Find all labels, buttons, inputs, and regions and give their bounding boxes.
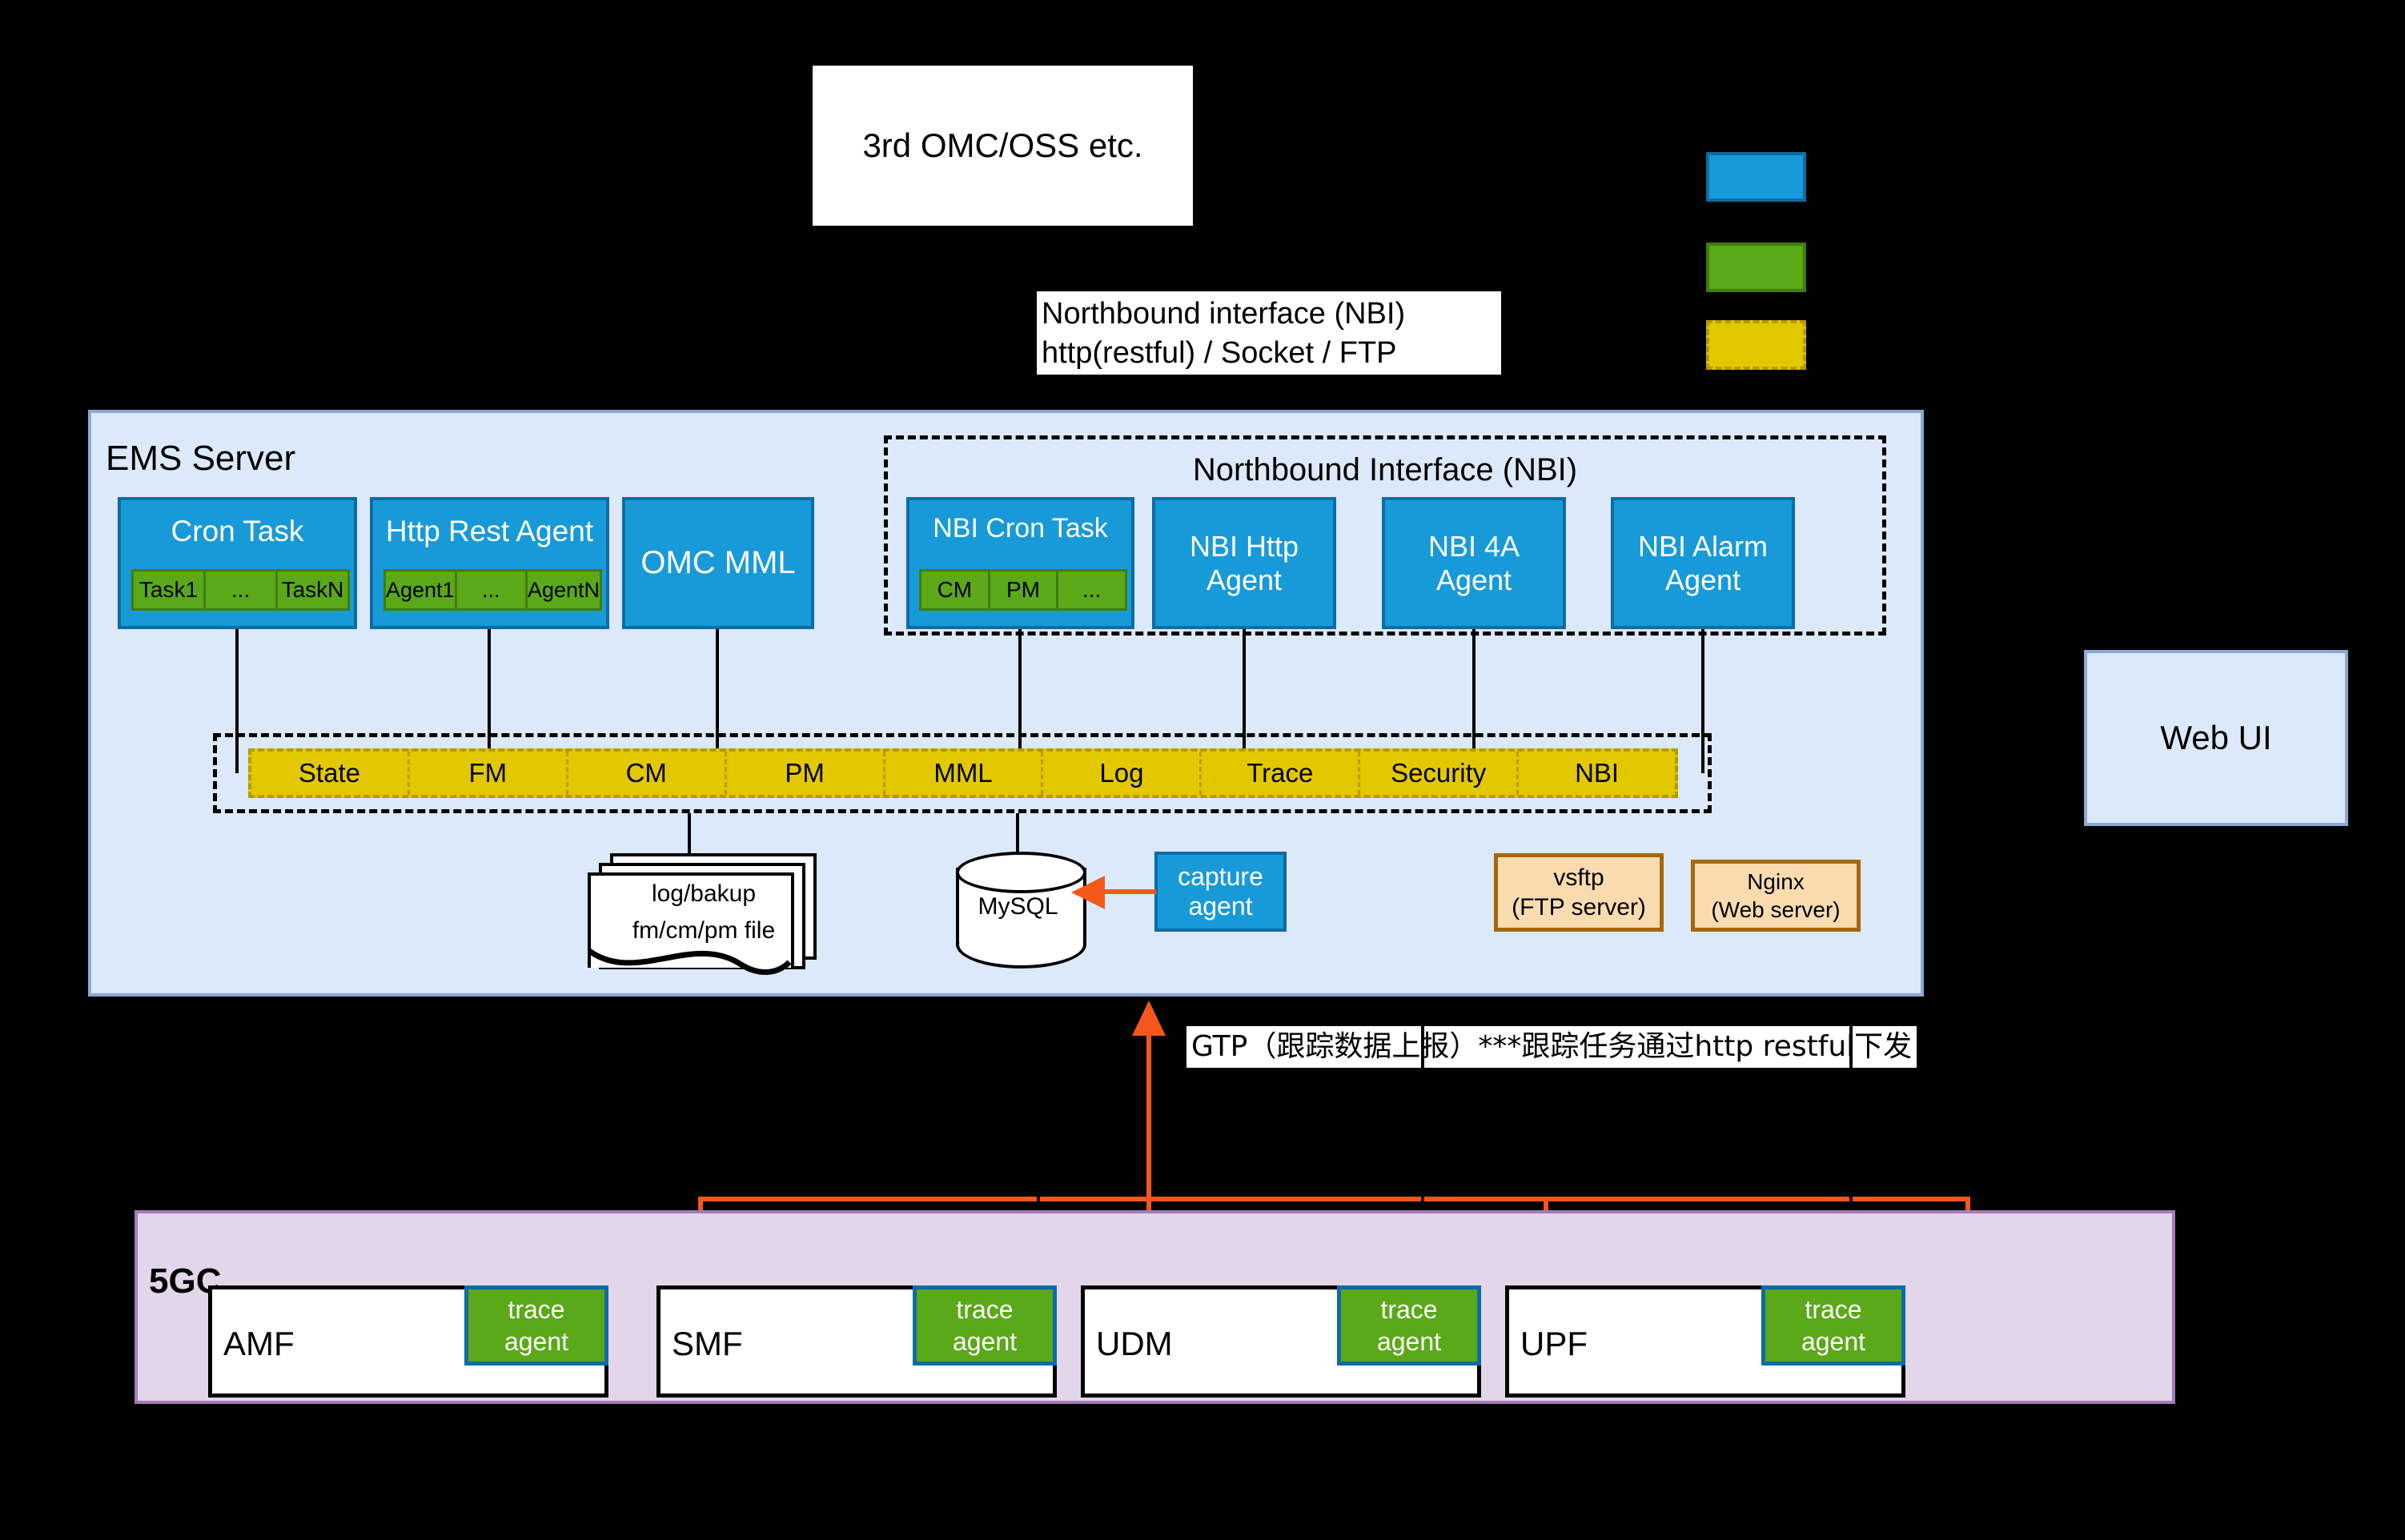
vsftp-line1: vsftp bbox=[1498, 863, 1660, 893]
http-rest-agent-chip[interactable]: ... bbox=[457, 571, 528, 608]
component-nbi-http-agent[interactable]: NBI Http Agent bbox=[1152, 497, 1336, 629]
cron-task-chip[interactable]: ... bbox=[206, 571, 278, 608]
mysql-cylinder-top bbox=[956, 852, 1086, 893]
third-party-omc-oss-box: 3rd OMC/OSS etc. bbox=[813, 66, 1193, 226]
component-nbi-alarm-agent-label-line2: Agent bbox=[1614, 563, 1792, 597]
nbi-link-label-line1: Northbound interface (NBI) bbox=[1042, 295, 1496, 334]
vsftp-server-box[interactable]: vsftp (FTP server) bbox=[1494, 853, 1664, 932]
web-ui-box[interactable]: Web UI bbox=[2084, 650, 2348, 826]
trace-agent-smf[interactable]: trace agent bbox=[913, 1285, 1057, 1366]
trace-agent-amf-line1: trace bbox=[468, 1293, 604, 1325]
gc-node-upf-label: UPF bbox=[1520, 1325, 1588, 1363]
file-store-line2: fm/cm/pm file bbox=[588, 917, 820, 944]
trace-agent-upf-line2: agent bbox=[1765, 1325, 1901, 1358]
gc-node-amf-label: AMF bbox=[223, 1325, 295, 1363]
arrow-capture-to-mysql-line bbox=[1098, 889, 1156, 894]
trace-agent-smf-line1: trace bbox=[917, 1293, 1053, 1325]
trace-agent-amf[interactable]: trace agent bbox=[464, 1285, 608, 1366]
trace-agent-upf-line1: trace bbox=[1765, 1293, 1901, 1325]
trace-bus-horizontal bbox=[698, 1197, 1969, 1201]
legend-yellow-swatch bbox=[1706, 320, 1806, 370]
service-state[interactable]: State bbox=[251, 752, 410, 795]
http-rest-agent-chips: Agent1 ... AgentN bbox=[383, 569, 602, 611]
trace-agent-amf-line2: agent bbox=[468, 1325, 604, 1358]
web-ui-label: Web UI bbox=[2160, 719, 2271, 757]
nbi-cron-task-chip[interactable]: CM bbox=[921, 571, 990, 608]
gc-node-udm-label: UDM bbox=[1096, 1325, 1173, 1363]
component-omc-mml-label: OMC MML bbox=[640, 545, 795, 581]
nginx-line2: (Web server) bbox=[1695, 896, 1857, 924]
ems-server-panel: EMS Server Northbound Interface (NBI) Cr… bbox=[88, 410, 1924, 997]
nbi-link-label: Northbound interface (NBI) http(restful)… bbox=[1037, 291, 1501, 375]
file-store-icon: log/bakup fm/cm/pm file bbox=[588, 853, 820, 973]
connector-servicebar-to-mysql bbox=[1016, 813, 1019, 853]
component-cron-task-label: Cron Task bbox=[121, 515, 354, 547]
mysql-database-icon: MySQL bbox=[956, 852, 1080, 964]
component-cron-task[interactable]: Cron Task Task1 ... TaskN bbox=[118, 497, 357, 629]
file-sheet-wave bbox=[588, 948, 791, 986]
mysql-label: MySQL bbox=[956, 893, 1080, 920]
cron-task-chip[interactable]: TaskN bbox=[278, 571, 347, 608]
trace-agent-udm-line2: agent bbox=[1341, 1325, 1477, 1358]
component-nbi-cron-task[interactable]: NBI Cron Task CM PM ... bbox=[906, 497, 1134, 629]
cron-task-chips: Task1 ... TaskN bbox=[131, 569, 350, 611]
http-rest-agent-chip[interactable]: AgentN bbox=[528, 571, 600, 608]
nbi-cron-task-chip[interactable]: PM bbox=[990, 571, 1059, 608]
nginx-server-box[interactable]: Nginx (Web server) bbox=[1691, 860, 1861, 932]
component-http-rest-agent-label: Http Rest Agent bbox=[373, 515, 606, 547]
trace-agent-udm[interactable]: trace agent bbox=[1337, 1285, 1481, 1366]
legend-green-swatch bbox=[1706, 243, 1806, 292]
nbi-cron-task-chip[interactable]: ... bbox=[1058, 571, 1125, 608]
trace-agent-smf-line2: agent bbox=[917, 1325, 1053, 1358]
component-nbi-cron-task-label: NBI Cron Task bbox=[909, 513, 1131, 543]
legend-blue-swatch bbox=[1706, 152, 1806, 202]
component-http-rest-agent[interactable]: Http Rest Agent Agent1 ... AgentN bbox=[370, 497, 609, 629]
component-nbi-http-agent-label-line2: Agent bbox=[1155, 563, 1333, 597]
gc-panel: 5GC AMF trace agent SMF trace agent UDM … bbox=[135, 1210, 2175, 1404]
service-trace[interactable]: Trace bbox=[1202, 752, 1360, 795]
component-nbi-4a-agent-label-line1: NBI 4A bbox=[1385, 530, 1563, 563]
trace-agent-udm-line1: trace bbox=[1341, 1293, 1477, 1325]
ems-server-title: EMS Server bbox=[106, 439, 295, 479]
service-bar: State FM CM PM MML Log Trace Security NB… bbox=[248, 748, 1678, 798]
nbi-group-title: Northbound Interface (NBI) bbox=[888, 452, 1882, 488]
component-omc-mml[interactable]: OMC MML bbox=[622, 497, 814, 629]
service-fm[interactable]: FM bbox=[410, 752, 568, 795]
file-store-line1: log/bakup bbox=[588, 880, 820, 908]
component-nbi-4a-agent-label-line2: Agent bbox=[1385, 563, 1563, 597]
service-pm[interactable]: PM bbox=[727, 752, 885, 795]
service-log[interactable]: Log bbox=[1043, 752, 1202, 795]
http-rest-agent-chip[interactable]: Agent1 bbox=[386, 571, 457, 608]
connector-servicebar-to-filestore bbox=[688, 813, 691, 853]
component-nbi-alarm-agent-label-line1: NBI Alarm bbox=[1614, 530, 1792, 563]
nbi-cron-task-chips: CM PM ... bbox=[919, 569, 1127, 611]
service-security[interactable]: Security bbox=[1360, 752, 1519, 795]
capture-agent-line1: capture bbox=[1158, 862, 1283, 892]
nginx-line1: Nginx bbox=[1695, 868, 1857, 896]
nbi-link-label-line2: http(restful) / Socket / FTP bbox=[1042, 334, 1496, 373]
connector-omc-to-ems bbox=[1001, 226, 1004, 410]
third-party-omc-oss-label: 3rd OMC/OSS etc. bbox=[862, 126, 1142, 165]
gtp-annotation: GTP（跟踪数据上报）***跟踪任务通过http restful下发 bbox=[1186, 1026, 1917, 1068]
component-nbi-alarm-agent[interactable]: NBI Alarm Agent bbox=[1611, 497, 1795, 629]
component-nbi-4a-agent[interactable]: NBI 4A Agent bbox=[1382, 497, 1566, 629]
vsftp-line2: (FTP server) bbox=[1498, 892, 1660, 923]
gc-node-smf-label: SMF bbox=[672, 1325, 743, 1363]
component-nbi-http-agent-label-line1: NBI Http bbox=[1155, 530, 1333, 563]
arrow-capture-to-mysql-head bbox=[1070, 874, 1106, 911]
gtp-annotation-text: GTP（跟踪数据上报）***跟踪任务通过http restful下发 bbox=[1191, 1029, 1912, 1066]
service-cm[interactable]: CM bbox=[568, 752, 727, 795]
service-mml[interactable]: MML bbox=[885, 752, 1044, 795]
capture-agent-line2: agent bbox=[1158, 892, 1283, 921]
capture-agent-box[interactable]: capture agent bbox=[1154, 852, 1287, 932]
trace-agent-upf[interactable]: trace agent bbox=[1761, 1285, 1905, 1366]
service-nbi[interactable]: NBI bbox=[1519, 752, 1675, 795]
cron-task-chip[interactable]: Task1 bbox=[134, 571, 206, 608]
